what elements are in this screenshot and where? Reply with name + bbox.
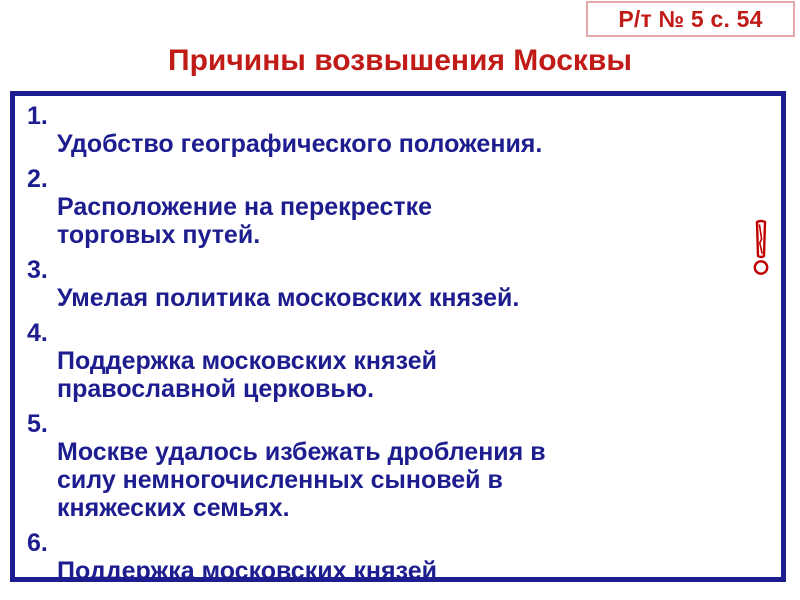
list-item-number: 2. <box>27 165 48 193</box>
reference-badge-text: Р/т № 5 с. 54 <box>618 8 762 31</box>
list-item: 2.Расположение на перекрестке торговых п… <box>27 165 769 249</box>
list-item: 6.Поддержка московских князей ордынскими… <box>27 529 769 582</box>
list-item-text: Москве удалось избежать дробления в силу… <box>57 438 546 522</box>
reference-badge: Р/т № 5 с. 54 <box>586 1 795 37</box>
list-item: 4.Поддержка московских князей православн… <box>27 319 769 403</box>
content-panel: 1.Удобство географического положения. 2.… <box>10 91 786 582</box>
list-item-number: 6. <box>27 529 48 557</box>
list-item: 3.Умелая политика московских князей. <box>27 256 769 312</box>
exclamation-mark-icon <box>748 219 774 277</box>
list-item-text: Удобство географического положения. <box>57 130 542 158</box>
list-item-number: 4. <box>27 319 48 347</box>
list-item-text: Поддержка московских князей православной… <box>57 347 437 403</box>
list-item-number: 3. <box>27 256 48 284</box>
list-item-text: Умелая политика московских князей. <box>57 284 519 312</box>
list-item-text: Расположение на перекрестке торговых пут… <box>57 193 432 249</box>
list-item: 5.Москве удалось избежать дробления в си… <box>27 410 769 522</box>
list-item: 1.Удобство географического положения. <box>27 102 769 158</box>
list-item-number: 1. <box>27 102 48 130</box>
list-item-number: 5. <box>27 410 48 438</box>
page-title: Причины возвышения Москвы <box>0 44 800 77</box>
list-item-text: Поддержка московских князей ордынскими х… <box>57 557 437 582</box>
reasons-list: 1.Удобство географического положения. 2.… <box>15 96 781 582</box>
slide-canvas: { "badge": { "text": "Р/т № 5 с. 54", "b… <box>0 0 800 600</box>
